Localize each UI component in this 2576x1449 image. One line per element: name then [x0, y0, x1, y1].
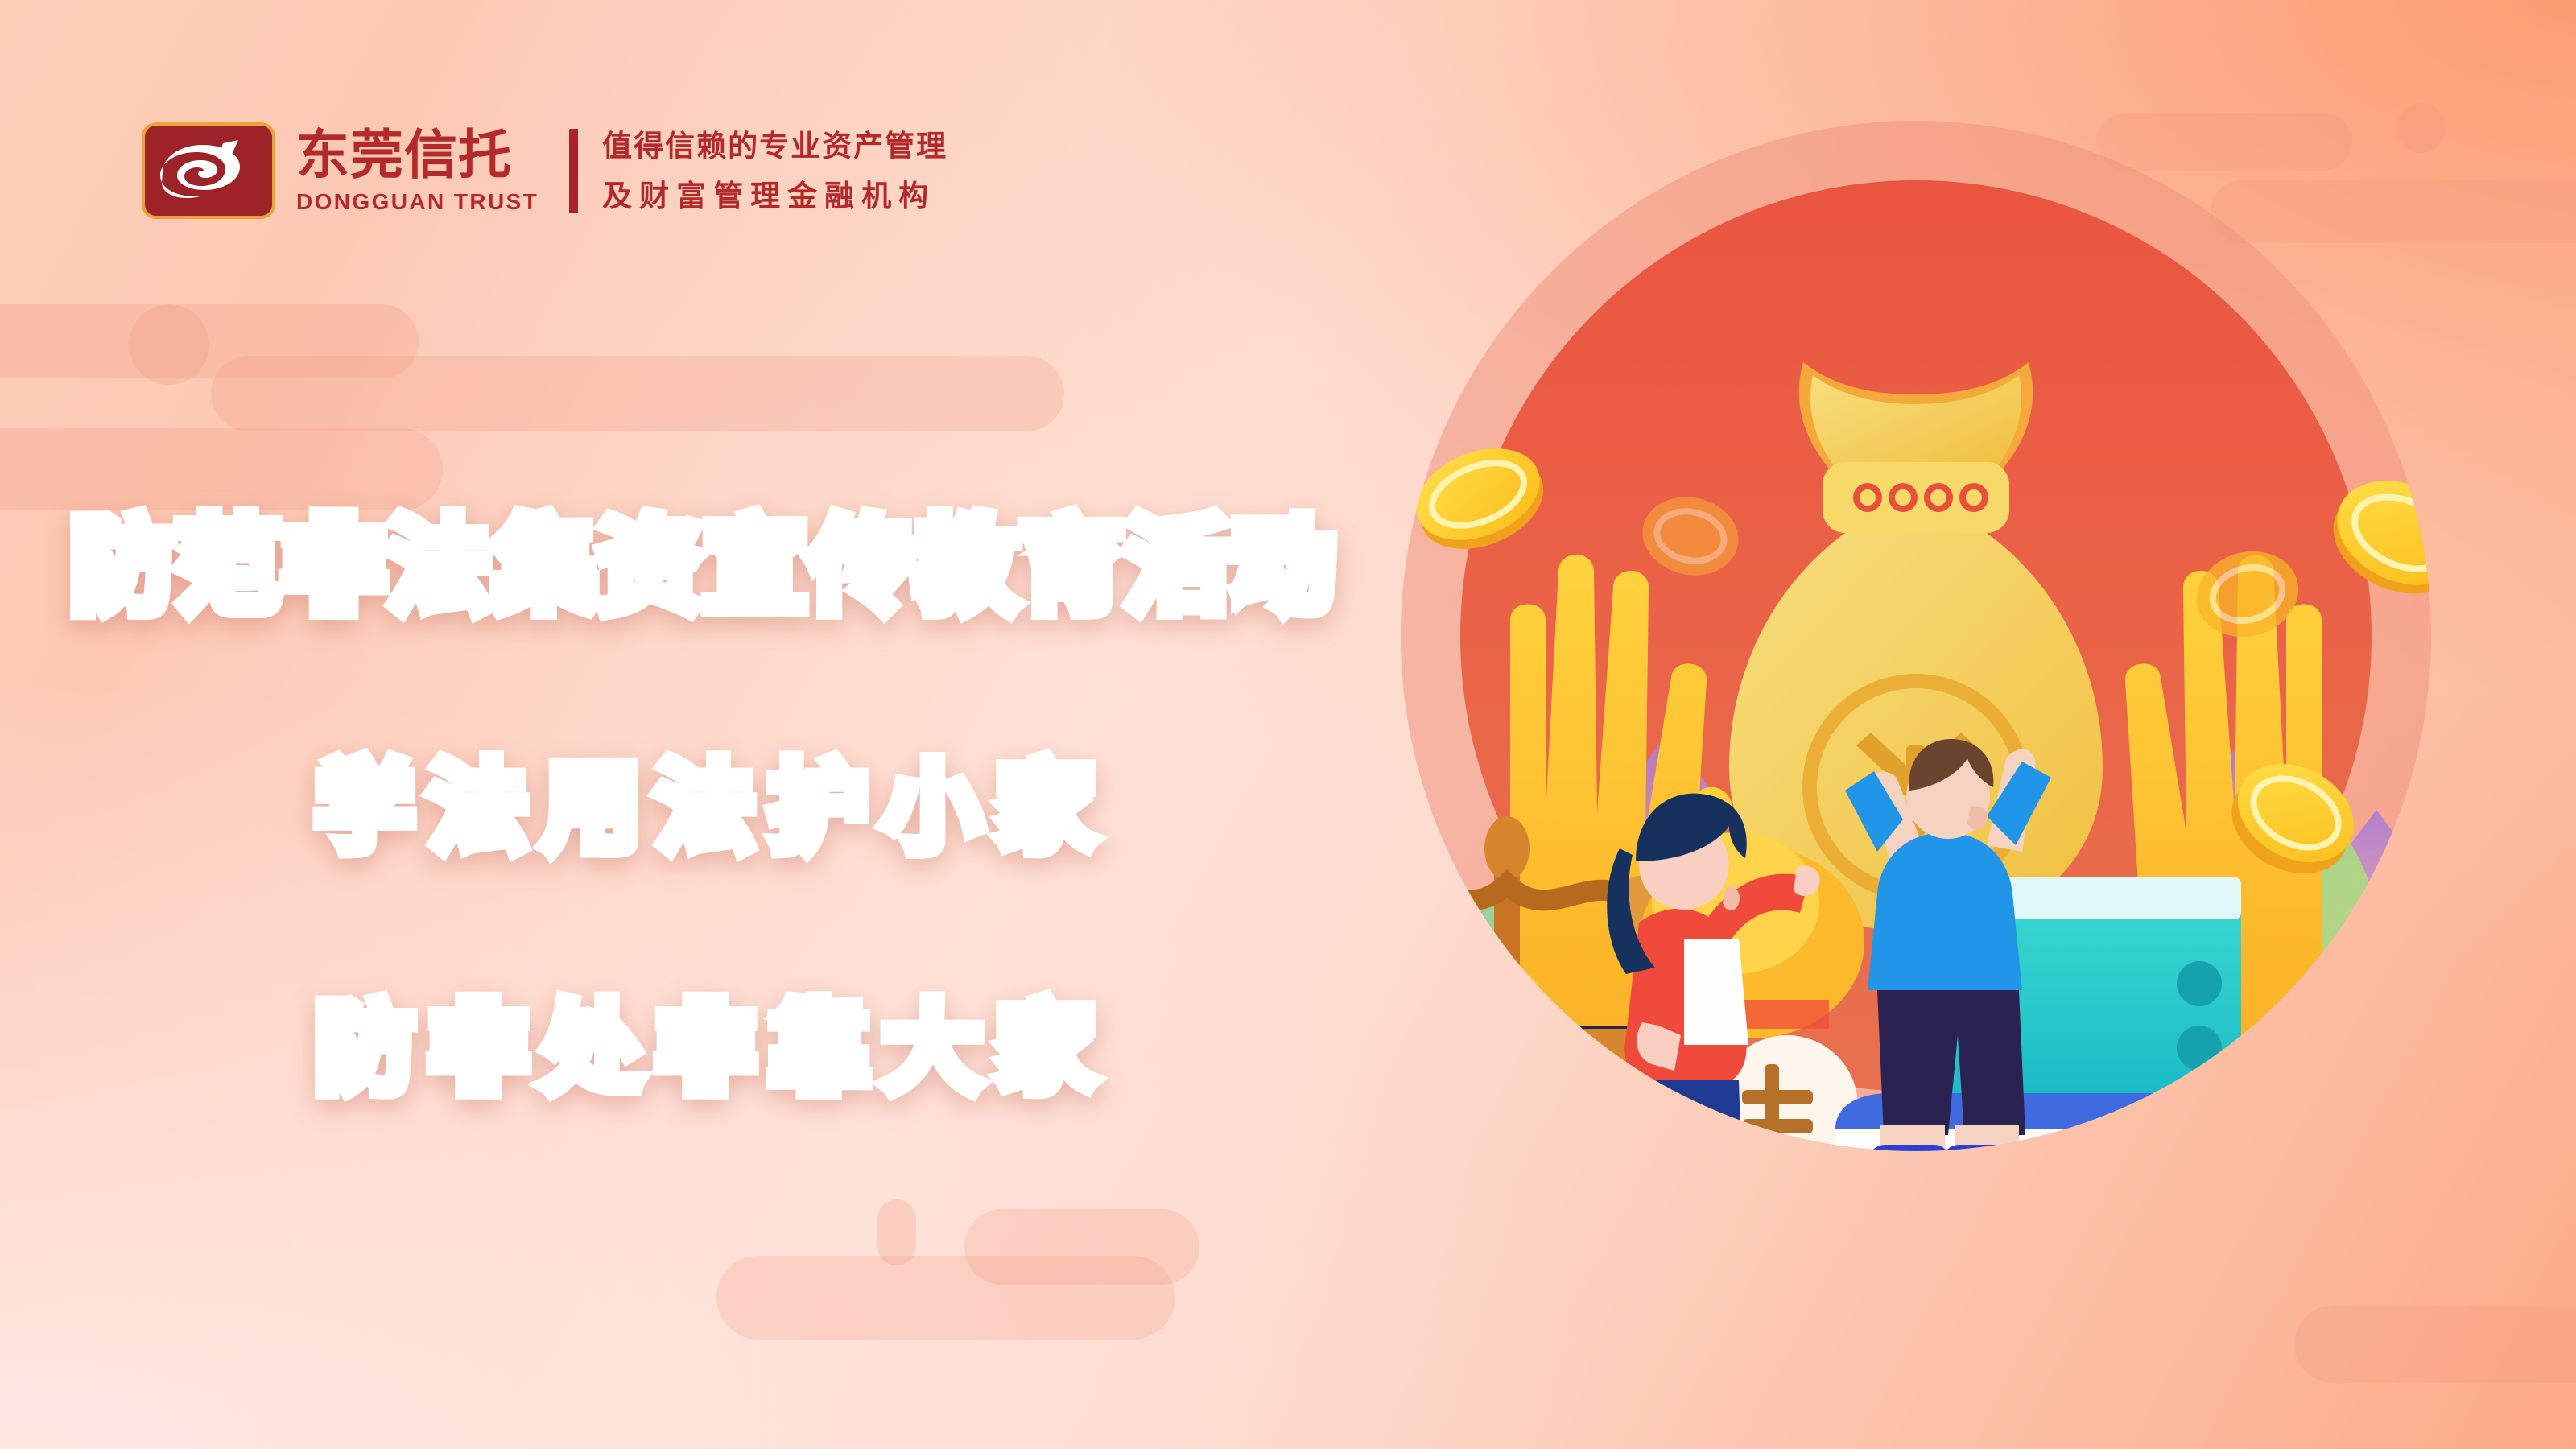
- gold-ingots: [2194, 1053, 2406, 1135]
- logo-divider: [569, 129, 578, 213]
- decor-dot: [129, 304, 209, 385]
- brand-wordmark: 东莞信托 DONGGUAN TRUST: [296, 126, 539, 216]
- tagline-line-2: 及财富管理金融机构: [602, 181, 947, 211]
- illustration-anti-illegal-fundraising: [1304, 105, 2528, 1328]
- brand-name-cn: 东莞信托: [296, 129, 539, 182]
- law-book-stack: [1787, 1093, 2318, 1328]
- headline-line-1: 防范非法集资宣传教育活动: [71, 483, 1368, 632]
- decor-pill: [211, 356, 1064, 431]
- headline-line-3: 防非处非靠大家: [316, 969, 1368, 1112]
- tagline-line-1: 值得信赖的专业资产管理: [602, 131, 947, 161]
- headline-block: 防范非法集资宣传教育活动 学法用法护小家 防非处非靠大家: [0, 483, 1368, 1112]
- brand-logo-lockup[interactable]: 东莞信托 DONGGUAN TRUST 值得信赖的专业资产管理 及财富管理金融机…: [142, 121, 947, 221]
- brand-tagline: 值得信赖的专业资产管理 及财富管理金融机构: [602, 126, 947, 216]
- dongguan-trust-emblem-icon: [142, 122, 275, 219]
- decor-pill: [716, 1256, 1175, 1340]
- brand-name-en: DONGGUAN TRUST: [296, 191, 539, 213]
- headline-line-2: 学法用法护小家: [316, 729, 1368, 871]
- promotional-banner: 东莞信托 DONGGUAN TRUST 值得信赖的专业资产管理 及财富管理金融机…: [0, 0, 2576, 1449]
